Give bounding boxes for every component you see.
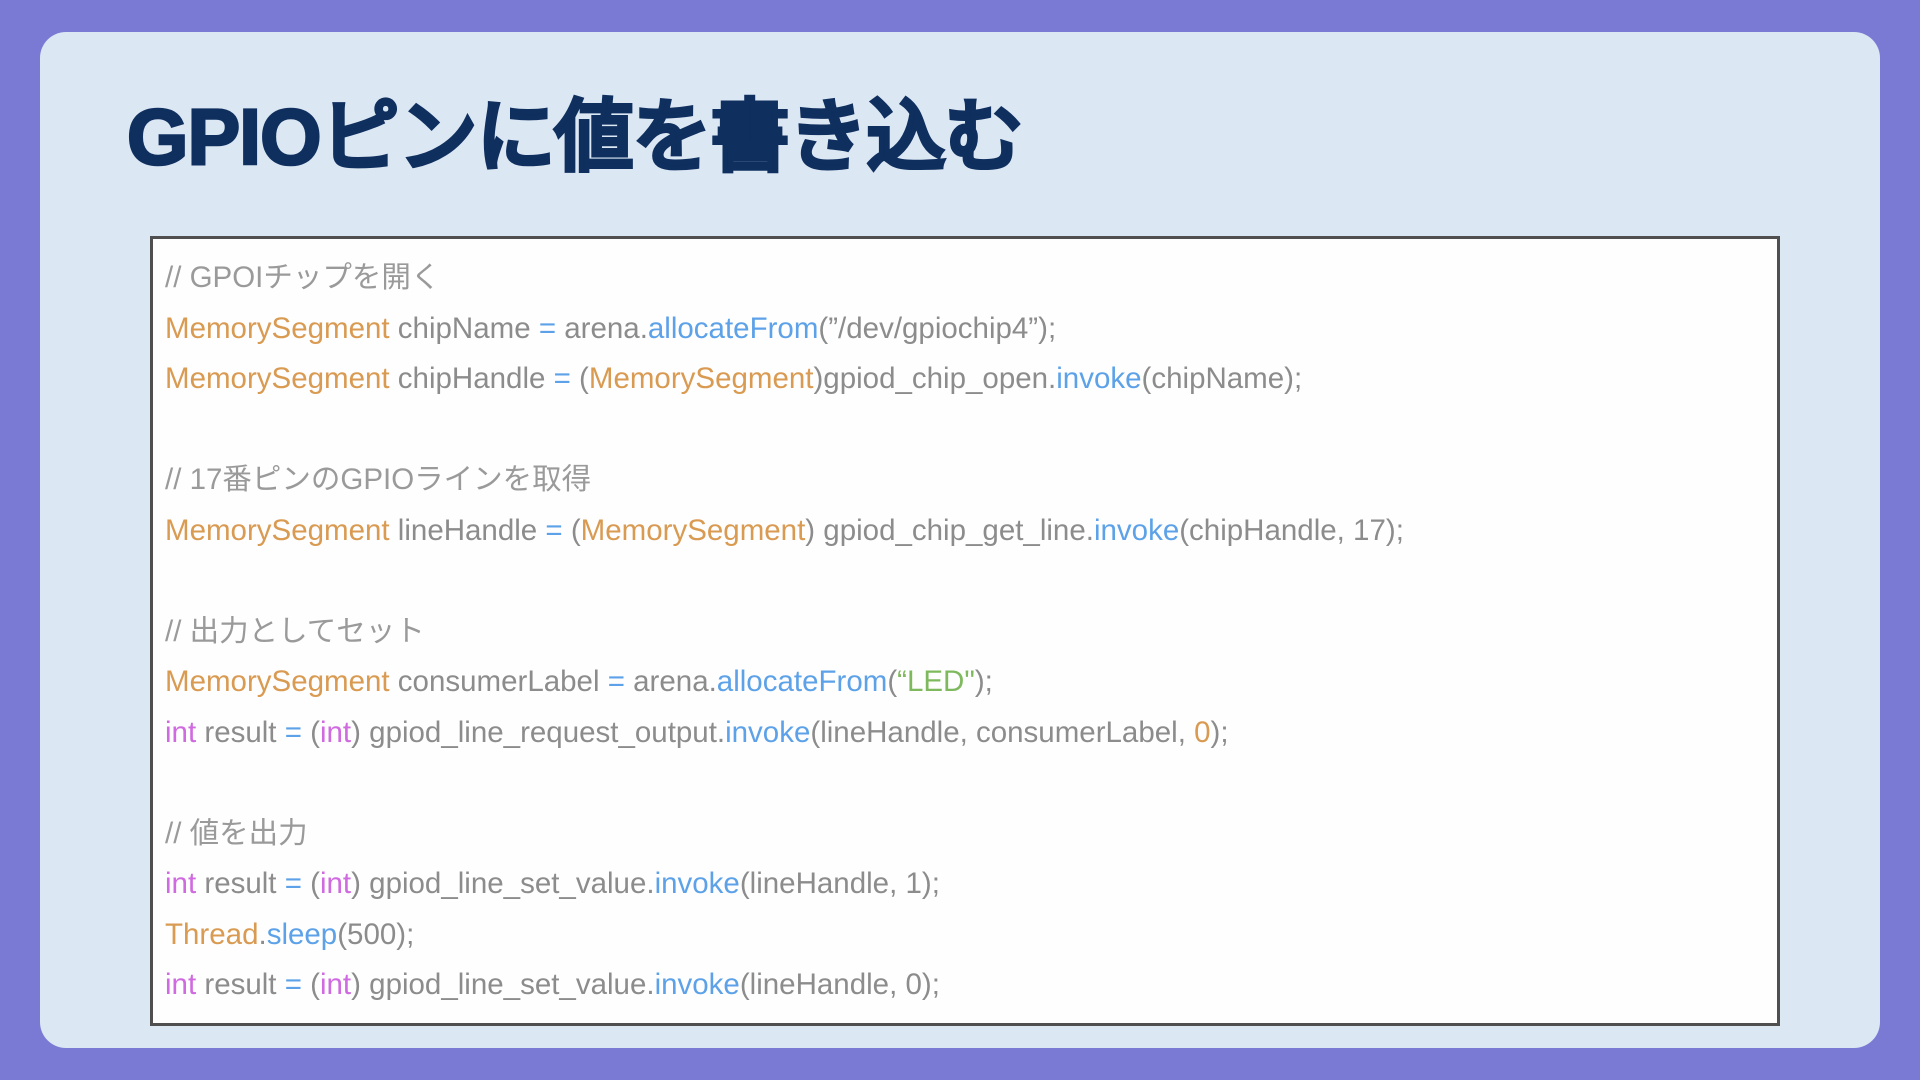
code-token: (chipName); — [1142, 362, 1303, 395]
code-token: ) gpiod_line_set_value. — [351, 867, 654, 900]
code-token: ( — [887, 665, 897, 698]
code-line: Thread.sleep(500); — [165, 910, 1777, 961]
code-line: MemorySegment consumerLabel = arena.allo… — [165, 657, 1777, 708]
code-token: ( — [302, 968, 320, 1001]
code-token: = — [285, 716, 302, 749]
code-token: = — [539, 312, 556, 345]
code-token: result — [196, 867, 285, 900]
code-token: . — [258, 918, 266, 951]
code-token: arena. — [556, 312, 648, 345]
code-token: int — [320, 968, 351, 1001]
code-line: MemorySegment chipName = arena.allocateF… — [165, 304, 1777, 355]
code-token: = — [554, 362, 571, 395]
code-token: MemorySegment — [165, 312, 390, 345]
code-token: MemorySegment — [165, 665, 390, 698]
code-token: lineHandle — [390, 514, 546, 547]
code-token: // 出力としてセット — [165, 615, 425, 648]
code-token: ( — [571, 362, 589, 395]
code-token: ( — [302, 716, 320, 749]
code-token: allocateFrom — [648, 312, 819, 345]
code-lines: // GPOIチップを開くMemorySegment chipName = ar… — [165, 253, 1777, 1026]
code-token: MemorySegment — [581, 514, 806, 547]
code-token: int — [320, 716, 351, 749]
code-token: allocateFrom — [717, 665, 888, 698]
code-token: ) gpiod_line_request_output. — [351, 716, 725, 749]
code-line: MemorySegment lineHandle = (MemorySegmen… — [165, 506, 1777, 557]
code-token: MemorySegment — [589, 362, 814, 395]
code-token: ( — [302, 867, 320, 900]
code-token: invoke — [725, 716, 810, 749]
code-token — [165, 564, 173, 597]
code-token: // 17番ピンのGPIOラインを取得 — [165, 463, 591, 496]
code-line: // 17番ピンのGPIOラインを取得 — [165, 455, 1777, 506]
code-token: Thread — [165, 918, 258, 951]
code-token: (500); — [337, 918, 414, 951]
code-line: MemorySegment chipHandle = (MemorySegmen… — [165, 354, 1777, 405]
code-token: . — [258, 1019, 266, 1027]
code-token: ); — [1211, 716, 1229, 749]
code-token: MemorySegment — [165, 514, 390, 547]
code-token: Thread — [165, 1019, 258, 1027]
code-token: invoke — [1094, 514, 1179, 547]
code-token: (500); — [337, 1019, 414, 1027]
code-line: // 出力としてセット — [165, 607, 1777, 658]
code-token: = — [545, 514, 562, 547]
code-line: int result = (int) gpiod_line_set_value.… — [165, 960, 1777, 1011]
code-token: sleep — [267, 918, 338, 951]
code-token: 0 — [1194, 716, 1210, 749]
code-token: invoke — [655, 867, 740, 900]
code-line — [165, 758, 1777, 809]
code-line — [165, 405, 1777, 456]
code-line: // GPOIチップを開く — [165, 253, 1777, 304]
code-line — [165, 556, 1777, 607]
code-token: invoke — [655, 968, 740, 1001]
code-token: (”/dev/gpiochip4”); — [818, 312, 1056, 345]
code-token: (lineHandle, 0); — [740, 968, 940, 1001]
code-token: consumerLabel — [390, 665, 608, 698]
code-token: sleep — [267, 1019, 338, 1027]
code-token: // 値を出力 — [165, 817, 308, 850]
code-token: arena. — [625, 665, 717, 698]
code-token: int — [165, 716, 196, 749]
code-line: int result = (int) gpiod_line_set_value.… — [165, 859, 1777, 910]
code-token: “LED" — [897, 665, 975, 698]
code-line: // 値を出力 — [165, 809, 1777, 860]
code-token: )gpiod_chip_open. — [813, 362, 1056, 395]
code-token: = — [608, 665, 625, 698]
code-line: int result = (int) gpiod_line_request_ou… — [165, 708, 1777, 759]
code-token: = — [285, 867, 302, 900]
code-token: (lineHandle, 1); — [740, 867, 940, 900]
code-token: ) gpiod_line_set_value. — [351, 968, 654, 1001]
code-token: chipHandle — [390, 362, 554, 395]
code-token: result — [196, 968, 285, 1001]
code-line: Thread.sleep(500); — [165, 1011, 1777, 1027]
code-token: // GPOIチップを開く — [165, 261, 440, 294]
code-token: (chipHandle, 17); — [1179, 514, 1404, 547]
code-token: chipName — [390, 312, 539, 345]
code-token: int — [165, 867, 196, 900]
code-token: int — [165, 968, 196, 1001]
page-title: GPIOピンに値を書き込む — [127, 94, 1023, 181]
code-token: invoke — [1056, 362, 1141, 395]
code-token — [165, 413, 173, 446]
code-token: ); — [975, 665, 993, 698]
code-token: int — [320, 867, 351, 900]
code-token: (lineHandle, consumerLabel, — [810, 716, 1194, 749]
code-token — [165, 766, 173, 799]
slide-card: GPIOピンに値を書き込む // GPOIチップを開くMemorySegment… — [40, 32, 1880, 1048]
code-token: MemorySegment — [165, 362, 390, 395]
code-token: result — [196, 716, 285, 749]
code-token: ( — [563, 514, 581, 547]
code-token: ) gpiod_chip_get_line. — [805, 514, 1094, 547]
code-block: // GPOIチップを開くMemorySegment chipName = ar… — [150, 236, 1780, 1026]
code-token: = — [285, 968, 302, 1001]
